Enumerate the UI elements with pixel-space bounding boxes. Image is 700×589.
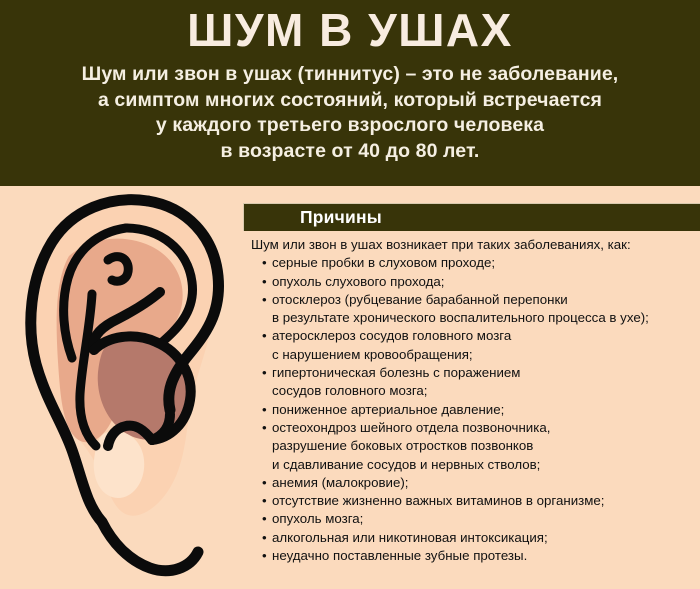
- subtitle-line-3: у каждого третьего взрослого человека: [0, 113, 700, 139]
- cause-item: •серные пробки в слуховом проходе;: [243, 254, 698, 272]
- cause-item-line: разрушение боковых отростков позвонков: [272, 437, 698, 455]
- bullet-icon: •: [262, 510, 267, 528]
- ear-illustration: [0, 186, 250, 589]
- cause-item-line: серные пробки в слуховом проходе;: [272, 254, 698, 272]
- bullet-icon: •: [262, 547, 267, 565]
- causes-list: •серные пробки в слуховом проходе;•опухо…: [243, 254, 698, 565]
- cause-item: •опухоль мозга;: [243, 510, 698, 528]
- subtitle-line-2: а симптом многих состояний, который встр…: [0, 88, 700, 114]
- bullet-icon: •: [262, 474, 267, 492]
- bullet-icon: •: [262, 492, 267, 510]
- bullet-icon: •: [262, 254, 267, 272]
- causes-section-label: Причины: [300, 207, 382, 228]
- cause-item: •отосклероз (рубцевание барабанной переп…: [243, 291, 698, 328]
- header-band: ШУМ В УШАХ Шум или звон в ушах (тиннитус…: [0, 0, 700, 186]
- cause-item: •опухоль слухового прохода;: [243, 273, 698, 291]
- header-subtitle: Шум или звон в ушах (тиннитус) – это не …: [0, 62, 700, 164]
- bullet-icon: •: [262, 327, 267, 345]
- cause-item: •анемия (малокровие);: [243, 474, 698, 492]
- cause-item-line: отсутствие жизненно важных витаминов в о…: [272, 492, 698, 510]
- causes-intro-text: Шум или звон в ушах возникает при таких …: [251, 236, 698, 254]
- cause-item: •алкогольная или никотиновая интоксикаци…: [243, 529, 698, 547]
- bullet-icon: •: [262, 419, 267, 437]
- causes-section-bar: Причины: [243, 203, 700, 231]
- cause-item-line: алкогольная или никотиновая интоксикация…: [272, 529, 698, 547]
- cause-item-line: гипертоническая болезнь с поражением: [272, 364, 698, 382]
- bullet-icon: •: [262, 273, 267, 291]
- bullet-icon: •: [262, 291, 267, 309]
- subtitle-line-1: Шум или звон в ушах (тиннитус) – это не …: [0, 62, 700, 88]
- cause-item-line: и сдавливание сосудов и нервных стволов;: [272, 456, 698, 474]
- cause-item-line: сосудов головного мозга;: [272, 382, 698, 400]
- cause-item-line: остеохондроз шейного отдела позвоночника…: [272, 419, 698, 437]
- cause-item-line: опухоль мозга;: [272, 510, 698, 528]
- cause-item-line: отосклероз (рубцевание барабанной перепо…: [272, 291, 698, 309]
- cause-item-line: неудачно поставленные зубные протезы.: [272, 547, 698, 565]
- page-title: ШУМ В УШАХ: [0, 2, 700, 58]
- tinnitus-infographic: ШУМ В УШАХ Шум или звон в ушах (тиннитус…: [0, 0, 700, 589]
- cause-item-line: атеросклероз сосудов головного мозга: [272, 327, 698, 345]
- bullet-icon: •: [262, 529, 267, 547]
- cause-item: •остеохондроз шейного отдела позвоночник…: [243, 419, 698, 474]
- bullet-icon: •: [262, 401, 267, 419]
- earlobe-outline: [102, 522, 198, 571]
- cause-item: •гипертоническая болезнь с поражениемсос…: [243, 364, 698, 401]
- cause-item: •атеросклероз сосудов головного мозгас н…: [243, 327, 698, 364]
- cause-item-line: в результате хронического воспалительног…: [272, 309, 698, 327]
- ear-svg: [0, 186, 250, 589]
- cause-item: •пониженное артериальное давление;: [243, 401, 698, 419]
- cause-item: •отсутствие жизненно важных витаминов в …: [243, 492, 698, 510]
- causes-content: Шум или звон в ушах возникает при таких …: [243, 236, 698, 565]
- cause-item: •неудачно поставленные зубные протезы.: [243, 547, 698, 565]
- subtitle-line-4: в возрасте от 40 до 80 лет.: [0, 139, 700, 165]
- cause-item-line: пониженное артериальное давление;: [272, 401, 698, 419]
- cause-item-line: опухоль слухового прохода;: [272, 273, 698, 291]
- cause-item-line: с нарушением кровообращения;: [272, 346, 698, 364]
- cause-item-line: анемия (малокровие);: [272, 474, 698, 492]
- bullet-icon: •: [262, 364, 267, 382]
